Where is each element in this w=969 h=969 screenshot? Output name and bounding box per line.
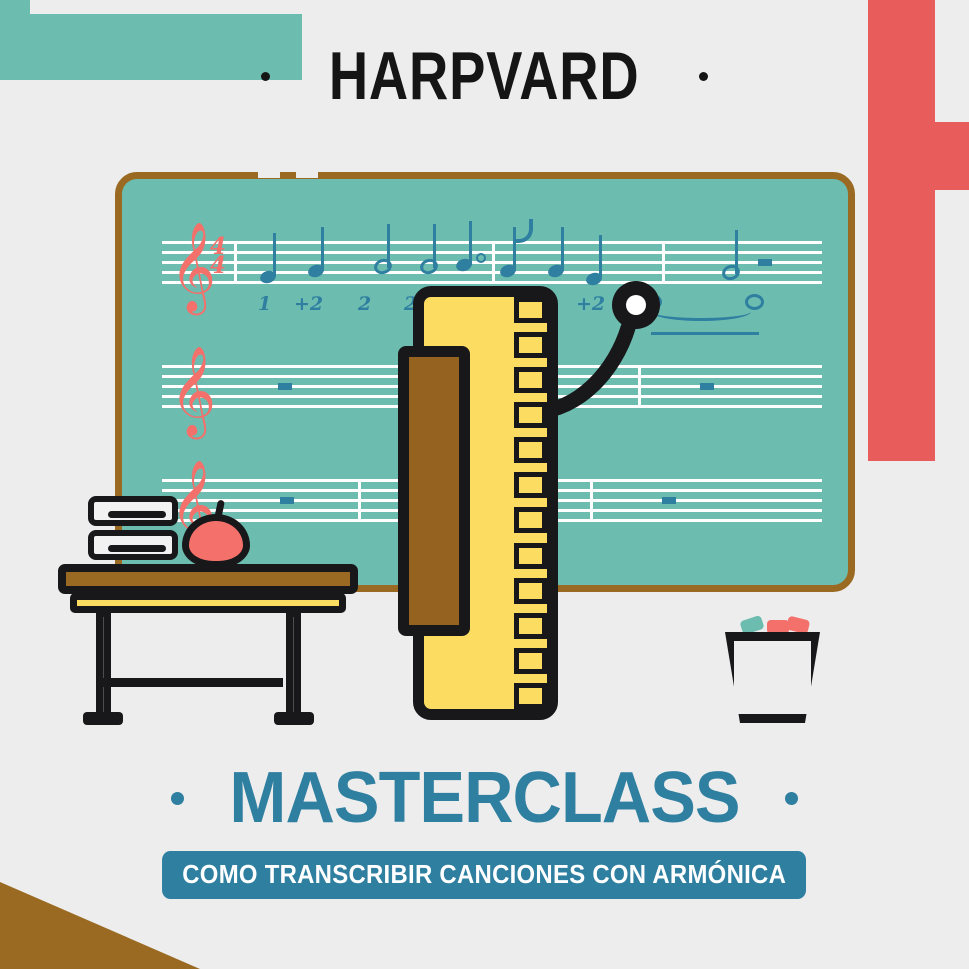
apple-illustration — [182, 502, 250, 568]
note-half — [374, 259, 392, 274]
desk-leg-left — [96, 610, 111, 720]
decor-red-arm — [935, 122, 969, 190]
desk-surface — [58, 564, 358, 594]
board-border-gap — [258, 169, 280, 178]
harmonica-illustration — [413, 286, 558, 720]
desk-cross-brace — [103, 678, 283, 687]
title-left-dot-icon — [171, 792, 184, 805]
brand-header: HARPVARD — [0, 44, 969, 109]
barline — [492, 241, 495, 284]
note-eighth-dotted — [456, 259, 472, 271]
magnified-tab-line — [651, 332, 759, 335]
harmonica-hole — [514, 683, 547, 709]
subtitle-badge: COMO TRANSCRIBIR CANCIONES CON ARMÓNICA — [162, 851, 806, 899]
desk-foot-right — [274, 712, 314, 725]
harmonica-hole — [514, 332, 547, 358]
book — [88, 530, 178, 560]
crumpled-paper-red — [786, 616, 811, 635]
time-signature: 4 4 — [210, 237, 226, 275]
note-quarter — [586, 273, 602, 285]
book — [88, 496, 178, 526]
rest-mark — [700, 383, 714, 390]
harmonica-hole — [514, 543, 547, 569]
harmonica-hole — [514, 437, 547, 463]
magnifier-icon — [612, 281, 660, 329]
note-half — [420, 259, 438, 274]
note-quarter — [260, 271, 276, 283]
rest-mark — [278, 383, 292, 390]
harmonica-hole — [514, 507, 547, 533]
tab-number: 1 — [258, 293, 271, 315]
rest-mark — [662, 497, 676, 504]
harmonica-hole — [514, 402, 547, 428]
board-border-gap — [296, 169, 318, 178]
time-signature-bottom: 4 — [210, 256, 226, 275]
harmonica-hole — [514, 297, 547, 323]
magnified-slur — [651, 302, 751, 321]
barline — [358, 479, 361, 522]
wastebasket-body — [725, 632, 820, 723]
book-stack — [88, 496, 178, 566]
barline — [590, 479, 593, 522]
subtitle-block: COMO TRANSCRIBIR CANCIONES CON ARMÓNICA — [0, 851, 969, 899]
brand-right-dot-icon — [699, 72, 708, 81]
title-block: MASTERCLASS — [0, 762, 969, 834]
magnified-notation — [643, 294, 783, 354]
note-quarter — [548, 265, 564, 277]
harmonica-hole — [514, 367, 547, 393]
wastebasket-illustration — [725, 618, 820, 723]
tab-number: 2 — [358, 293, 371, 315]
harmonica-hole — [514, 648, 547, 674]
note-eighth — [500, 265, 516, 277]
title-right-dot-icon — [785, 792, 798, 805]
harmonica-hole — [514, 472, 547, 498]
harmonica-hole — [514, 578, 547, 604]
barline — [234, 241, 237, 284]
barline — [662, 241, 665, 284]
book-spine-line — [108, 545, 166, 552]
desk-illustration — [58, 490, 358, 740]
tab-number: +2 — [294, 293, 323, 315]
harmonica-hole-row — [514, 297, 547, 709]
brand-name: HARPVARD — [329, 44, 640, 109]
poster-canvas: HARPVARD 𝄞 4 4 — [0, 0, 969, 969]
note-half — [722, 265, 740, 280]
note-quarter — [308, 265, 324, 277]
desk-leg-right — [286, 610, 301, 720]
augmentation-dot — [476, 253, 486, 263]
music-staff-1: 𝄞 4 4 — [162, 241, 822, 285]
magnifier-lens — [626, 295, 646, 315]
harmonica-hole — [514, 613, 547, 639]
harmonica-cover-plate — [398, 346, 470, 636]
desk-foot-left — [83, 712, 123, 725]
desk-drawer-band — [70, 593, 346, 613]
page-title: MASTERCLASS — [229, 762, 739, 834]
brand-left-dot-icon — [261, 72, 270, 81]
book-spine-line — [108, 511, 166, 518]
rest-mark — [758, 259, 772, 266]
apple-body — [182, 514, 250, 568]
